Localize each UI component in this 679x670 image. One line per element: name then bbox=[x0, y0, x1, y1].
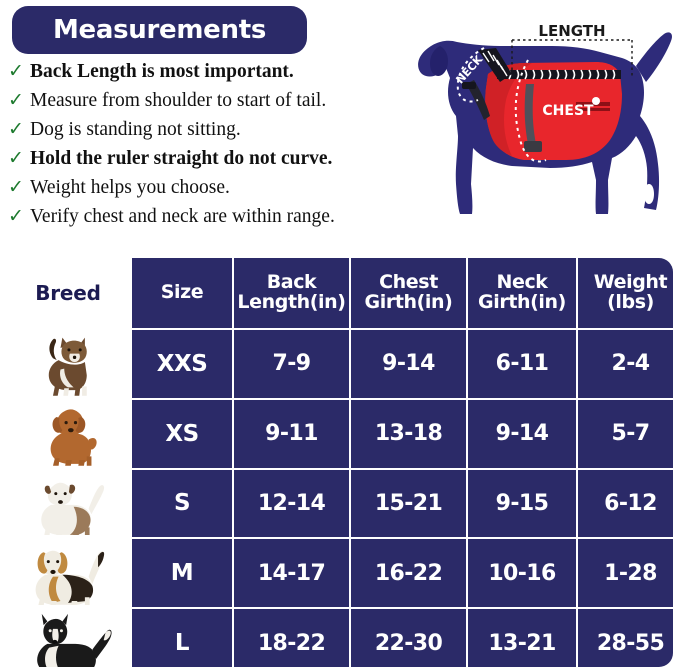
cell-chest-girth: 16-22 bbox=[351, 539, 466, 607]
jack-russell-terrier-photo bbox=[8, 472, 128, 536]
title-banner: Measurements bbox=[12, 6, 307, 54]
dog-harness-illustration: LENGTH CHEST NECK bbox=[400, 8, 679, 252]
header-line-1: Back bbox=[267, 271, 317, 293]
list-item-label: Back Length is most important. bbox=[30, 62, 294, 82]
list-item: ✓ Back Length is most important. bbox=[8, 62, 418, 90]
chihuahua-photo bbox=[8, 332, 128, 396]
cell-chest-girth: 9-14 bbox=[351, 330, 466, 398]
top-info-section: Measurements ✓ Back Length is most impor… bbox=[0, 0, 679, 256]
header-line-1: Neck bbox=[496, 271, 547, 293]
check-icon: ✓ bbox=[8, 62, 30, 81]
cell-weight: 1-28 bbox=[578, 539, 673, 607]
header-line-2: (lbs) bbox=[607, 291, 654, 313]
list-item: ✓ Measure from shoulder to start of tail… bbox=[8, 91, 418, 119]
list-item: ✓ Dog is standing not sitting. bbox=[8, 120, 418, 148]
breed-photo-cell bbox=[6, 539, 130, 607]
check-icon: ✓ bbox=[8, 149, 30, 168]
column-header-breed: Breed bbox=[6, 258, 130, 328]
breed-photo-cell bbox=[6, 330, 130, 398]
breed-photo-cell bbox=[6, 400, 130, 468]
cell-neck-girth: 13-21 bbox=[468, 609, 576, 667]
check-icon: ✓ bbox=[8, 178, 30, 197]
table-grid: Breed Size BackLength(in) ChestGirth(in)… bbox=[6, 258, 673, 667]
breed-photo-cell bbox=[6, 609, 130, 667]
cell-weight: 2-4 bbox=[578, 330, 673, 398]
border-collie-photo bbox=[8, 611, 128, 667]
list-item: ✓ Hold the ruler straight do not curve. bbox=[8, 149, 418, 177]
check-icon: ✓ bbox=[8, 207, 30, 226]
column-header-back-length: BackLength(in) bbox=[234, 258, 349, 328]
cell-neck-girth: 6-11 bbox=[468, 330, 576, 398]
list-item-label: Verify chest and neck are within range. bbox=[30, 207, 335, 227]
cell-chest-girth: 15-21 bbox=[351, 470, 466, 538]
length-label: LENGTH bbox=[538, 22, 605, 40]
cell-weight: 6-12 bbox=[578, 470, 673, 538]
zipper-strip bbox=[497, 70, 621, 79]
cell-back-length: 18-22 bbox=[234, 609, 349, 667]
page-title: Measurements bbox=[53, 17, 266, 43]
header-line-2: Girth(in) bbox=[478, 291, 566, 313]
column-header-weight: Weight(lbs) bbox=[578, 258, 673, 328]
cell-neck-girth: 9-14 bbox=[468, 400, 576, 468]
check-icon: ✓ bbox=[8, 120, 30, 139]
breed-photo-cell bbox=[6, 470, 130, 538]
poodle-photo bbox=[8, 402, 128, 466]
cell-back-length: 7-9 bbox=[234, 330, 349, 398]
cell-back-length: 9-11 bbox=[234, 400, 349, 468]
cell-neck-girth: 9-15 bbox=[468, 470, 576, 538]
column-header-neck-girth: NeckGirth(in) bbox=[468, 258, 576, 328]
header-line-1: Chest bbox=[379, 271, 438, 293]
column-header-size: Size bbox=[132, 258, 232, 328]
beagle-photo bbox=[8, 541, 128, 605]
chest-label: CHEST bbox=[542, 103, 594, 119]
list-item: ✓ Weight helps you choose. bbox=[8, 178, 418, 206]
header-line-2: Length(in) bbox=[237, 291, 345, 313]
cell-size: L bbox=[132, 609, 232, 667]
cell-back-length: 14-17 bbox=[234, 539, 349, 607]
cell-size: M bbox=[132, 539, 232, 607]
cell-back-length: 12-14 bbox=[234, 470, 349, 538]
cell-size: XS bbox=[132, 400, 232, 468]
cell-size: XXS bbox=[132, 330, 232, 398]
cell-size: S bbox=[132, 470, 232, 538]
header-line-2: Girth(in) bbox=[365, 291, 453, 313]
size-chart-table: Breed Size BackLength(in) ChestGirth(in)… bbox=[6, 258, 673, 667]
measurement-checklist: ✓ Back Length is most important. ✓ Measu… bbox=[8, 62, 418, 236]
list-item-label: Measure from shoulder to start of tail. bbox=[30, 91, 326, 111]
list-item-label: Hold the ruler straight do not curve. bbox=[30, 149, 332, 169]
list-item-label: Weight helps you choose. bbox=[30, 178, 230, 198]
cell-weight: 28-55 bbox=[578, 609, 673, 667]
check-icon: ✓ bbox=[8, 91, 30, 110]
cell-chest-girth: 13-18 bbox=[351, 400, 466, 468]
cell-weight: 5-7 bbox=[578, 400, 673, 468]
header-line-1: Weight bbox=[594, 271, 668, 293]
cell-neck-girth: 10-16 bbox=[468, 539, 576, 607]
cell-chest-girth: 22-30 bbox=[351, 609, 466, 667]
column-header-chest-girth: ChestGirth(in) bbox=[351, 258, 466, 328]
list-item: ✓ Verify chest and neck are within range… bbox=[8, 207, 418, 235]
list-item-label: Dog is standing not sitting. bbox=[30, 120, 241, 140]
